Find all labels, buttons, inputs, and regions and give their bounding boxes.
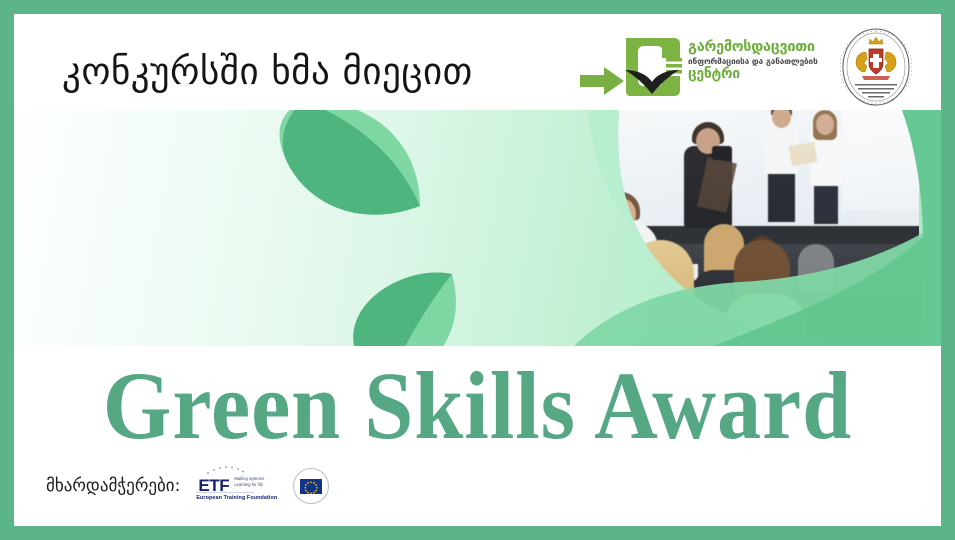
- page-title: Green Skills Award: [51, 358, 904, 454]
- etf-subtitle: European Training Foundation: [196, 495, 277, 501]
- european-union-flag-logo: [292, 467, 330, 505]
- call-to-action-text: კონკურსში ხმა მიეცით: [62, 50, 473, 93]
- eiec-line-2: ინფორმაციისა და განათლების: [688, 56, 820, 67]
- etf-wordmark: ETF: [198, 476, 229, 496]
- supporters-row: მხარდამჭერები: ETF Making systemsLearnin…: [46, 462, 330, 510]
- eiec-logo-text: გარემოსდაცვითი ინფორმაციისა და განათლები…: [688, 40, 820, 82]
- hero-graphic-band: [14, 110, 941, 346]
- poster-inner: კონკურსში ხმა მიეცით: [14, 14, 941, 526]
- open-book-leaf-mark: [622, 36, 682, 98]
- etf-tagline: Making systemsLearning for life: [234, 476, 264, 488]
- hero-photo-wrap: [14, 110, 941, 346]
- etf-logo: ETF Making systemsLearning for life Euro…: [194, 465, 278, 507]
- eiec-line-3: ცენტრი: [688, 67, 820, 82]
- poster-canvas: კონკურსში ხმა მიეცით: [0, 0, 955, 540]
- supporters-label: მხარდამჭერები:: [46, 476, 180, 496]
- header-band: კონკურსში ხმა მიეცით: [14, 14, 941, 110]
- arrow-right-icon: [580, 66, 624, 96]
- eiec-logo: გარემოსდაცვითი ინფორმაციისა და განათლები…: [622, 36, 822, 100]
- georgia-ministry-coat-of-arms: [840, 26, 912, 108]
- eiec-line-1: გარემოსდაცვითი: [688, 40, 820, 56]
